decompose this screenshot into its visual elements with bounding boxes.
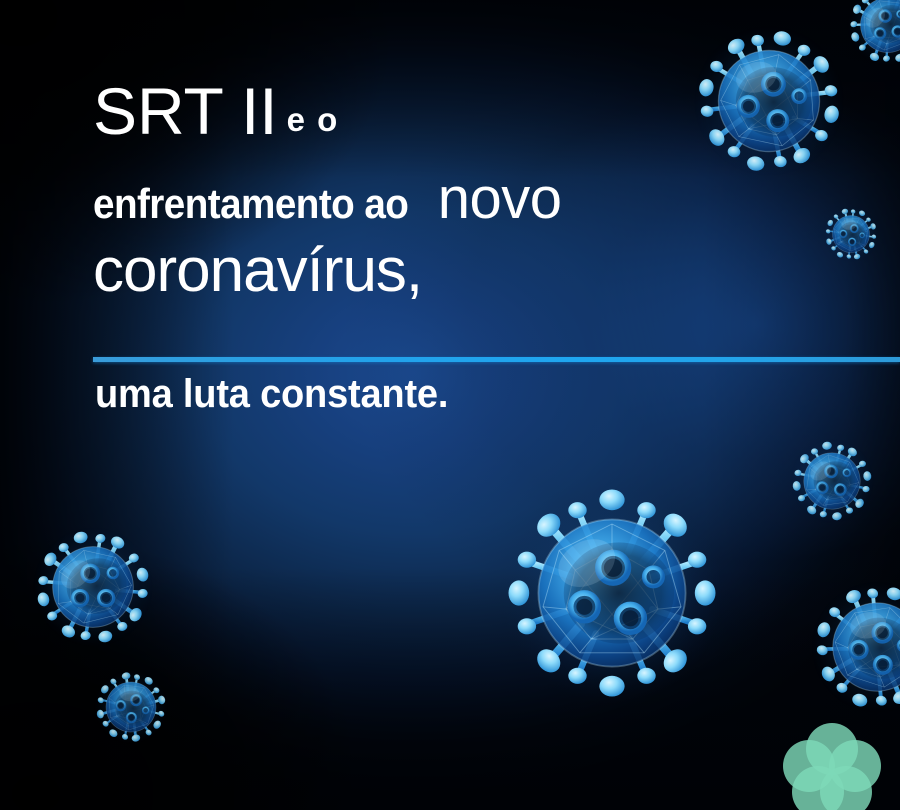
headline-srt-label: SRT II [93,74,278,148]
headline-tagline-label: uma luta constante. [95,372,448,417]
headline-novo-label: novo [438,166,562,231]
headline-block: SRT IIe o enfrentamento aonovo coronavír… [93,78,883,302]
poster-canvas: SRT IIe o enfrentamento aonovo coronavír… [0,0,900,810]
five-petal-flower-logo [780,718,884,810]
headline-eo-label: e o [287,101,339,138]
headline-coronavirus-label: coronavírus, [93,240,883,302]
headline-line-2: enfrentamento aonovo [93,170,883,228]
headline-line-1: SRT IIe o [93,78,883,144]
headline-enfrentamento-label: enfrentamento ao [93,183,408,225]
cyan-divider-rule [93,357,900,362]
